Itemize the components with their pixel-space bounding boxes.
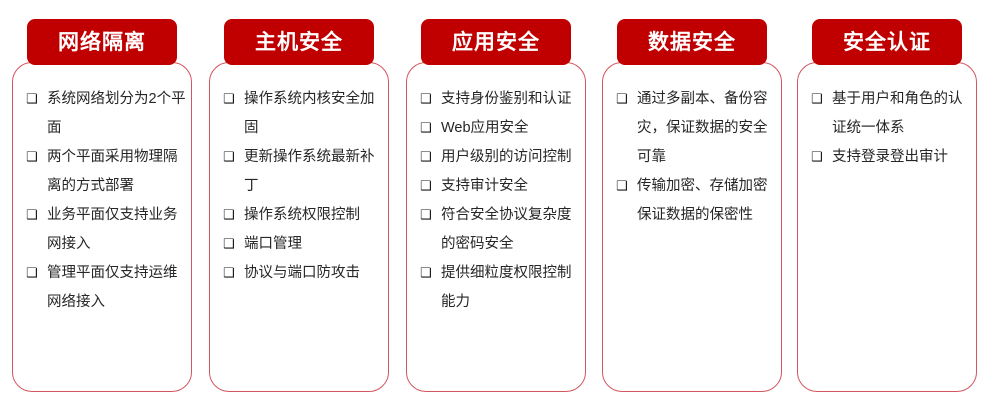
hollow-square-bullet-icon: ❑ xyxy=(616,172,632,201)
list-item-label: 提供细粒度权限控制能力 xyxy=(436,259,580,317)
list-item-label: 业务平面仅支持业务网接入 xyxy=(42,201,186,259)
card-list-host-security: ❑操作系统内核安全加固❑更新操作系统最新补丁❑操作系统权限控制❑端口管理❑协议与… xyxy=(209,85,389,288)
list-item: ❑提供细粒度权限控制能力 xyxy=(420,259,580,317)
list-item-label: Web应用安全 xyxy=(436,114,580,143)
list-item: ❑支持身份鉴别和认证 xyxy=(420,85,580,114)
hollow-square-bullet-icon: ❑ xyxy=(223,201,239,230)
hollow-square-bullet-icon: ❑ xyxy=(420,259,436,288)
list-item-label: 操作系统权限控制 xyxy=(239,201,383,230)
hollow-square-bullet-icon: ❑ xyxy=(420,172,436,201)
hollow-square-bullet-icon: ❑ xyxy=(811,143,827,172)
hollow-square-bullet-icon: ❑ xyxy=(616,85,632,114)
hollow-square-bullet-icon: ❑ xyxy=(26,143,42,172)
list-item-label: 通过多副本、备份容灾，保证数据的安全可靠 xyxy=(632,85,776,172)
list-item-label: 管理平面仅支持运维网络接入 xyxy=(42,259,186,317)
list-item: ❑基于用户和角色的认证统一体系 xyxy=(811,85,971,143)
list-item: ❑用户级别的访问控制 xyxy=(420,143,580,172)
capability-column-application-security: 应用安全❑支持身份鉴别和认证❑Web应用安全❑用户级别的访问控制❑支持审计安全❑… xyxy=(406,0,588,403)
hollow-square-bullet-icon: ❑ xyxy=(26,201,42,230)
list-item-label: 符合安全协议复杂度的密码安全 xyxy=(436,201,580,259)
list-item-label: 操作系统内核安全加固 xyxy=(239,85,383,143)
list-item-label: 支持身份鉴别和认证 xyxy=(436,85,580,114)
card-list-application-security: ❑支持身份鉴别和认证❑Web应用安全❑用户级别的访问控制❑支持审计安全❑符合安全… xyxy=(406,85,586,317)
list-item-label: 用户级别的访问控制 xyxy=(436,143,580,172)
capability-column-data-security: 数据安全❑通过多副本、备份容灾，保证数据的安全可靠❑传输加密、存储加密保证数据的… xyxy=(602,0,784,403)
card-header-security-authentication[interactable]: 安全认证 xyxy=(812,19,962,65)
card-list-security-authentication: ❑基于用户和角色的认证统一体系❑支持登录登出审计 xyxy=(797,85,977,172)
hollow-square-bullet-icon: ❑ xyxy=(420,114,436,143)
hollow-square-bullet-icon: ❑ xyxy=(223,230,239,259)
list-item: ❑更新操作系统最新补丁 xyxy=(223,143,383,201)
list-item-label: 更新操作系统最新补丁 xyxy=(239,143,383,201)
list-item-label: 两个平面采用物理隔离的方式部署 xyxy=(42,143,186,201)
security-capability-board: 网络隔离❑系统网络划分为2个平面❑两个平面采用物理隔离的方式部署❑业务平面仅支持… xyxy=(0,0,994,403)
hollow-square-bullet-icon: ❑ xyxy=(223,143,239,172)
list-item: ❑操作系统内核安全加固 xyxy=(223,85,383,143)
hollow-square-bullet-icon: ❑ xyxy=(420,143,436,172)
card-list-network-isolation: ❑系统网络划分为2个平面❑两个平面采用物理隔离的方式部署❑业务平面仅支持业务网接… xyxy=(12,85,192,317)
card-header-host-security[interactable]: 主机安全 xyxy=(224,19,374,65)
list-item-label: 基于用户和角色的认证统一体系 xyxy=(827,85,971,143)
list-item: ❑符合安全协议复杂度的密码安全 xyxy=(420,201,580,259)
list-item: ❑支持审计安全 xyxy=(420,172,580,201)
card-header-network-isolation[interactable]: 网络隔离 xyxy=(27,19,177,65)
list-item: ❑两个平面采用物理隔离的方式部署 xyxy=(26,143,186,201)
card-header-title: 数据安全 xyxy=(648,32,736,53)
card-header-title: 安全认证 xyxy=(843,32,931,53)
list-item: ❑端口管理 xyxy=(223,230,383,259)
card-header-title: 网络隔离 xyxy=(58,32,146,53)
list-item: ❑业务平面仅支持业务网接入 xyxy=(26,201,186,259)
list-item: ❑系统网络划分为2个平面 xyxy=(26,85,186,143)
hollow-square-bullet-icon: ❑ xyxy=(223,259,239,288)
hollow-square-bullet-icon: ❑ xyxy=(26,259,42,288)
list-item-label: 系统网络划分为2个平面 xyxy=(42,85,186,143)
list-item: ❑管理平面仅支持运维网络接入 xyxy=(26,259,186,317)
list-item: ❑通过多副本、备份容灾，保证数据的安全可靠 xyxy=(616,85,776,172)
list-item-label: 传输加密、存储加密保证数据的保密性 xyxy=(632,172,776,230)
card-list-data-security: ❑通过多副本、备份容灾，保证数据的安全可靠❑传输加密、存储加密保证数据的保密性 xyxy=(602,85,782,230)
card-header-data-security[interactable]: 数据安全 xyxy=(617,19,767,65)
card-header-application-security[interactable]: 应用安全 xyxy=(421,19,571,65)
list-item-label: 协议与端口防攻击 xyxy=(239,259,383,288)
hollow-square-bullet-icon: ❑ xyxy=(420,201,436,230)
hollow-square-bullet-icon: ❑ xyxy=(811,85,827,114)
hollow-square-bullet-icon: ❑ xyxy=(223,85,239,114)
list-item-label: 端口管理 xyxy=(239,230,383,259)
list-item: ❑操作系统权限控制 xyxy=(223,201,383,230)
card-header-title: 主机安全 xyxy=(255,32,343,53)
list-item: ❑传输加密、存储加密保证数据的保密性 xyxy=(616,172,776,230)
hollow-square-bullet-icon: ❑ xyxy=(420,85,436,114)
list-item-label: 支持登录登出审计 xyxy=(827,143,971,172)
capability-column-network-isolation: 网络隔离❑系统网络划分为2个平面❑两个平面采用物理隔离的方式部署❑业务平面仅支持… xyxy=(12,0,194,403)
capability-column-host-security: 主机安全❑操作系统内核安全加固❑更新操作系统最新补丁❑操作系统权限控制❑端口管理… xyxy=(209,0,391,403)
list-item: ❑Web应用安全 xyxy=(420,114,580,143)
card-header-title: 应用安全 xyxy=(452,32,540,53)
capability-column-security-authentication: 安全认证❑基于用户和角色的认证统一体系❑支持登录登出审计 xyxy=(797,0,979,403)
hollow-square-bullet-icon: ❑ xyxy=(26,85,42,114)
list-item-label: 支持审计安全 xyxy=(436,172,580,201)
list-item: ❑支持登录登出审计 xyxy=(811,143,971,172)
list-item: ❑协议与端口防攻击 xyxy=(223,259,383,288)
